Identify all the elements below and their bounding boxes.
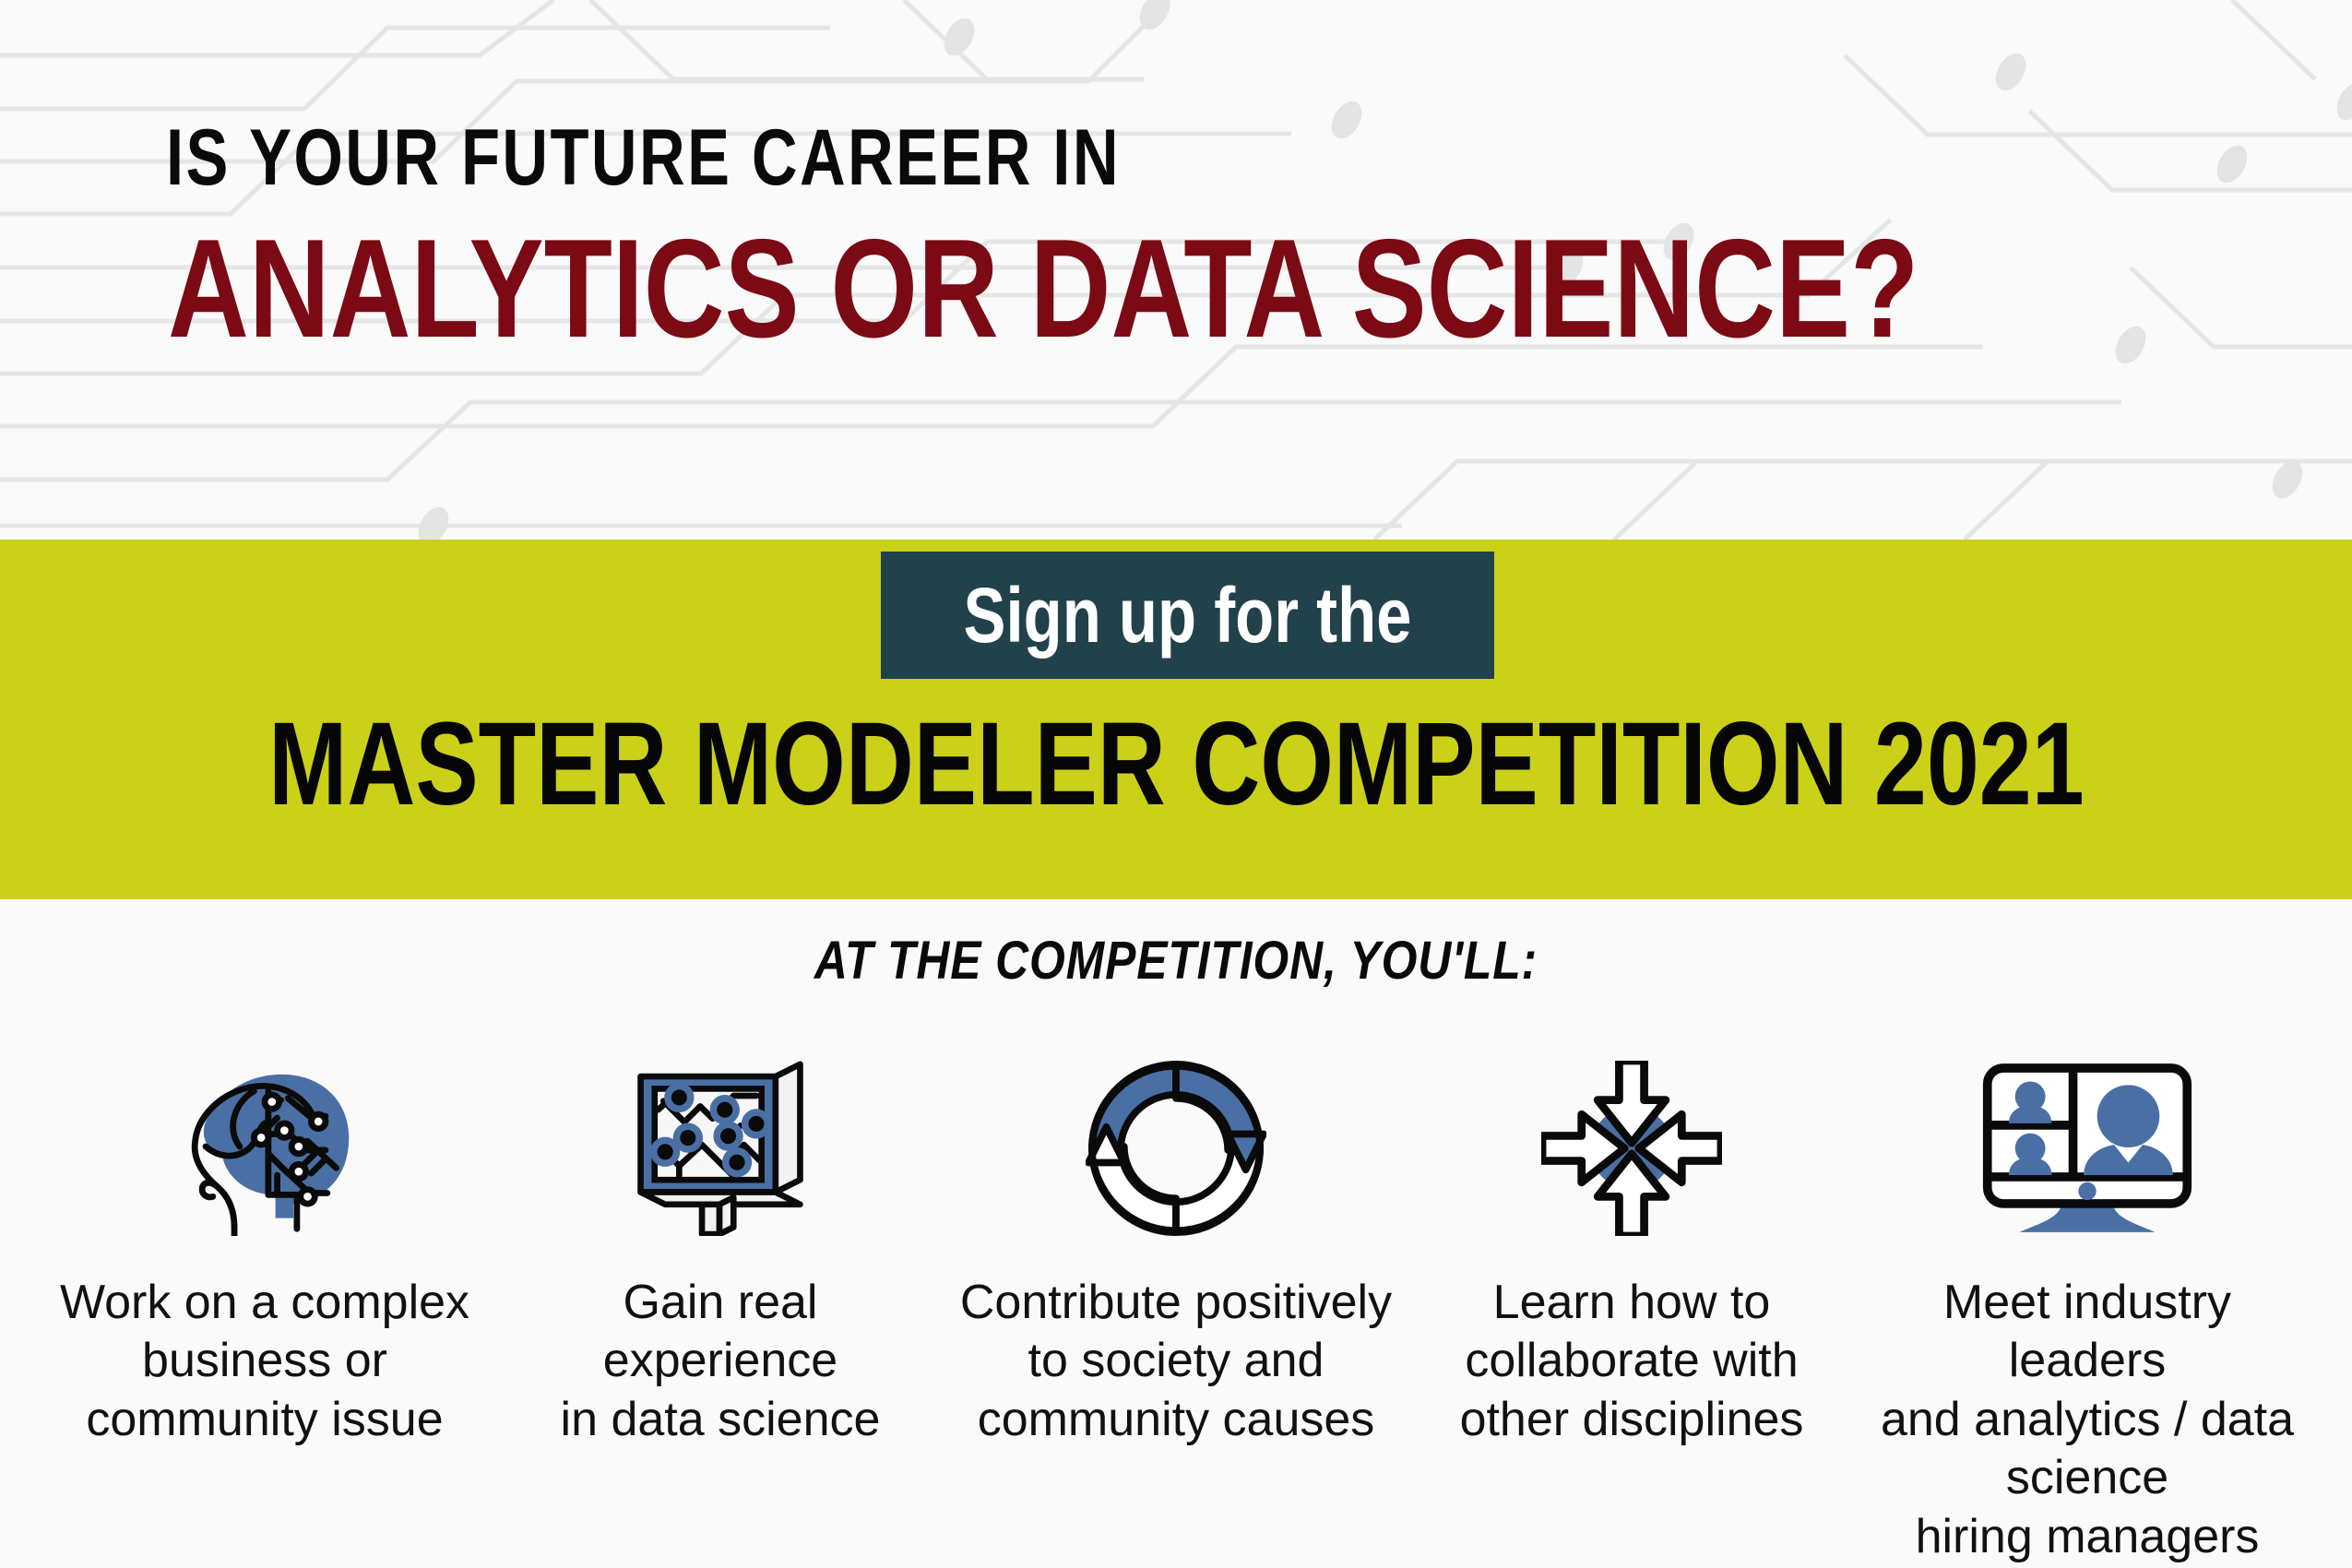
signup-badge[interactable]: Sign up for the — [881, 552, 1494, 679]
benefits-section: AT THE COMPETITION, YOU'LL: — [0, 899, 2352, 1568]
benefit-caption: Gain real experience in data science — [552, 1274, 890, 1449]
benefits-subheading-text: AT THE COMPETITION, YOU'LL: — [814, 934, 1538, 988]
benefit-item-collaborate: Learn how to collaborate with other disc… — [1404, 1056, 1859, 1449]
benefit-item-real-experience: Gain real experience in data science — [493, 1056, 948, 1449]
headline-group: IS YOUR FUTURE CAREER IN ANALYTICS OR DA… — [0, 0, 2352, 540]
signup-badge-label: Sign up for the — [936, 552, 1439, 679]
header-section: IS YOUR FUTURE CAREER IN ANALYTICS OR DA… — [0, 0, 2352, 540]
benefit-caption: Contribute positively to society and com… — [951, 1274, 1401, 1449]
competition-title: MASTER MODELER COMPETITION 2021 — [0, 706, 2352, 824]
benefit-item-complex-issue: Work on a complex business or community … — [37, 1056, 493, 1449]
benefit-caption: Work on a complex business or community … — [51, 1274, 479, 1449]
competition-title-text: MASTER MODELER COMPETITION 2021 — [268, 706, 2085, 824]
video-conference-screen-icon — [1859, 1056, 2315, 1241]
monitor-network-nodes-icon — [493, 1056, 948, 1241]
benefits-subheading: AT THE COMPETITION, YOU'LL: — [0, 934, 2352, 988]
promo-poster: IS YOUR FUTURE CAREER IN ANALYTICS OR DA… — [0, 0, 2352, 1568]
converging-arrows-collaboration-icon — [1404, 1056, 1859, 1241]
benefit-item-meet-leaders: Meet industry leaders and analytics / da… — [1859, 1056, 2315, 1566]
circular-arrows-recycle-icon — [948, 1056, 1404, 1241]
benefit-caption: Learn how to collaborate with other disc… — [1451, 1274, 1813, 1449]
headline-main: ANALYTICS OR DATA SCIENCE? — [168, 219, 1918, 359]
headline-eyebrow: IS YOUR FUTURE CAREER IN — [166, 118, 1121, 197]
brain-circuit-head-icon — [37, 1056, 493, 1241]
benefit-item-contribute-society: Contribute positively to society and com… — [948, 1056, 1404, 1449]
benefits-row: Work on a complex business or community … — [37, 1056, 2315, 1566]
benefit-caption: Meet industry leaders and analytics / da… — [1859, 1274, 2315, 1566]
